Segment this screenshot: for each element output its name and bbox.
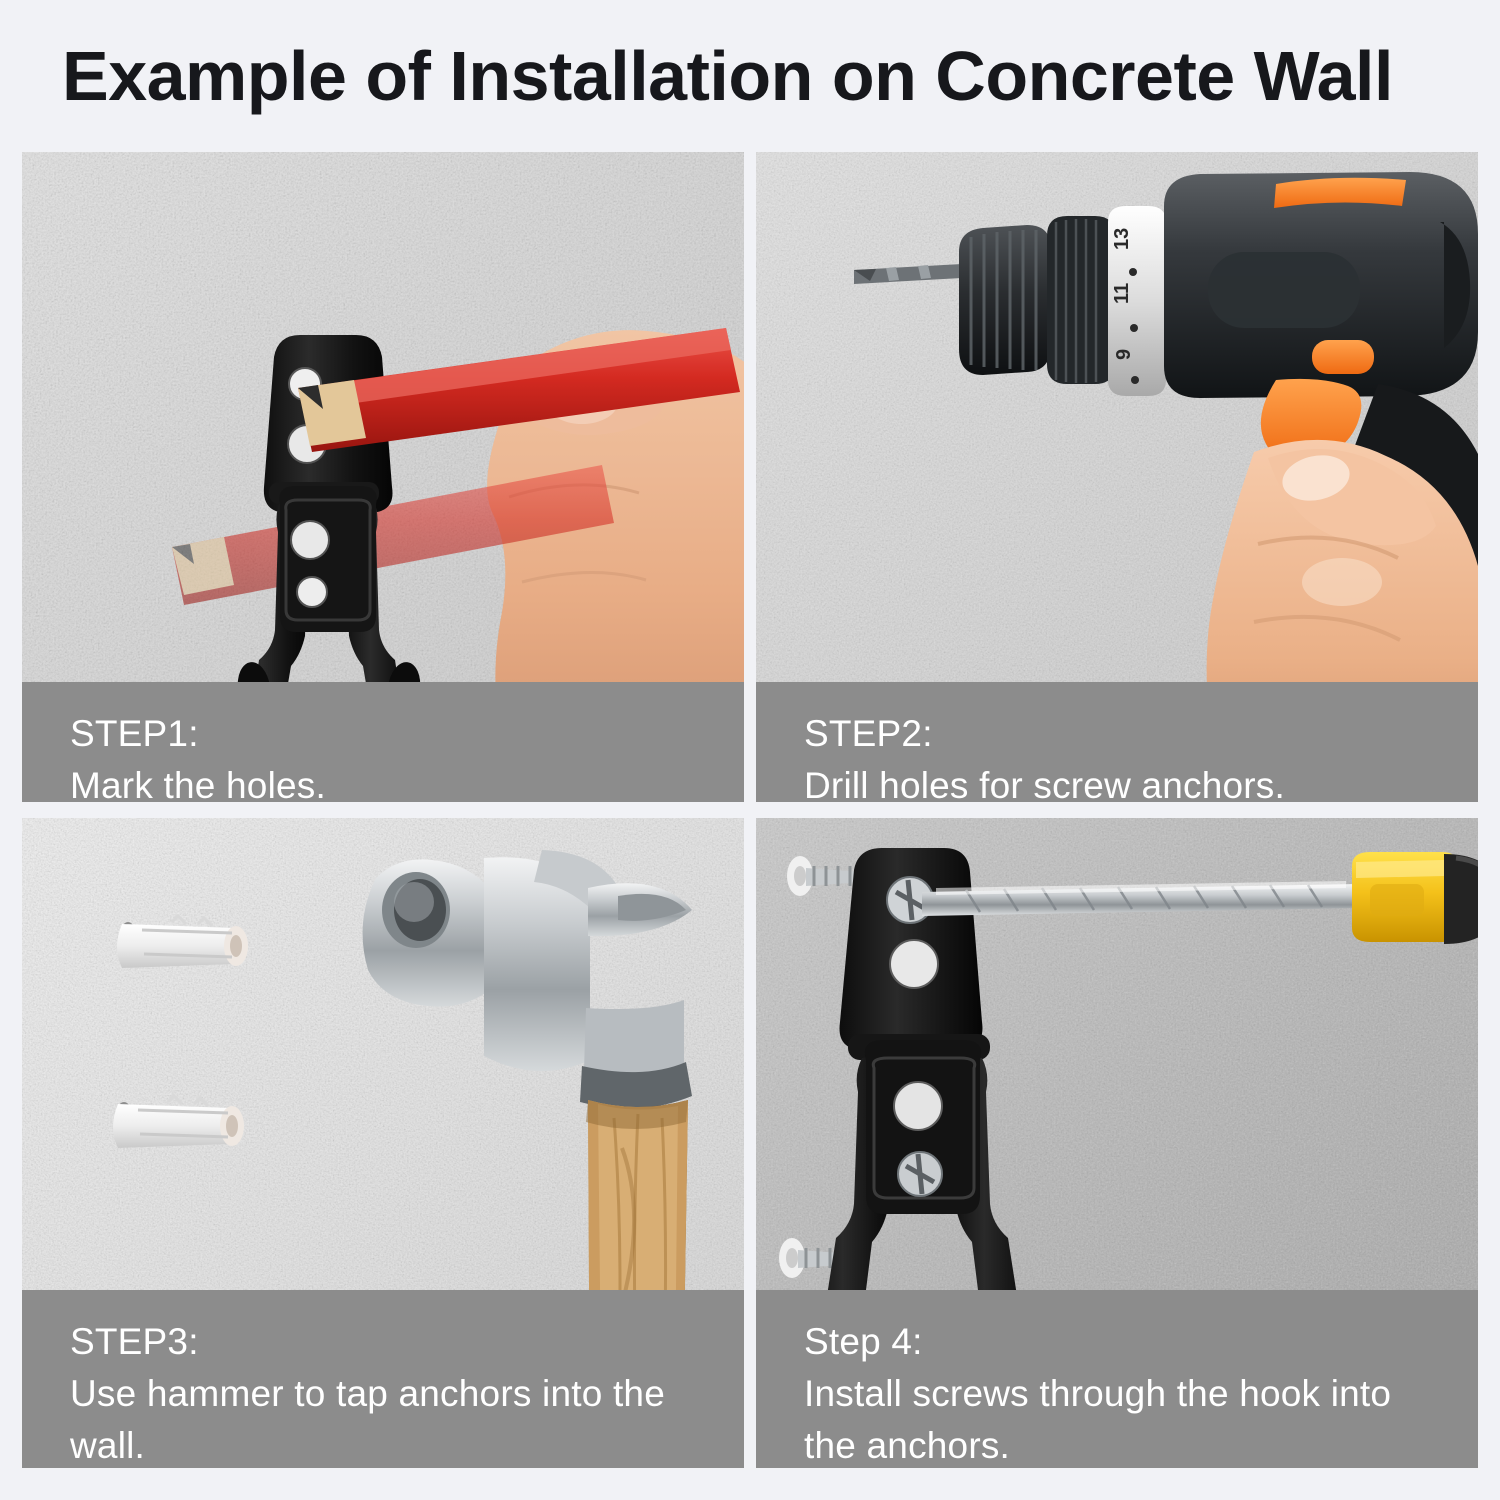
step-2-label: STEP2: — [804, 708, 1478, 760]
step-panel-grid: STEP1: Mark the holes. — [22, 152, 1478, 1468]
step-3-description: Use hammer to tap anchors into the wall. — [70, 1368, 680, 1468]
step-panel-3: STEP3: Use hammer to tap anchors into th… — [22, 818, 744, 1468]
step-3-caption: STEP3: Use hammer to tap anchors into th… — [22, 1290, 744, 1468]
step-panel-2: 13 11 9 — [756, 152, 1478, 802]
step-2-caption: STEP2: Drill holes for screw anchors. — [756, 682, 1478, 802]
clutch-mark-13: 13 — [1111, 228, 1133, 250]
clutch-mark-9: 9 — [1113, 349, 1135, 360]
step-1-caption: STEP1: Mark the holes. — [22, 682, 744, 802]
step-4-description: Install screws through the hook into the… — [804, 1368, 1414, 1468]
drill-direction-switch — [1312, 340, 1374, 374]
step-4-caption: Step 4: Install screws through the hook … — [756, 1290, 1478, 1468]
step-2-description: Drill holes for screw anchors. — [804, 760, 1414, 802]
step-1-label: STEP1: — [70, 708, 744, 760]
clutch-mark-11: 11 — [1111, 283, 1133, 304]
step-panel-1: STEP1: Mark the holes. — [22, 152, 744, 802]
step-4-label: Step 4: — [804, 1316, 1478, 1368]
step-3-label: STEP3: — [70, 1316, 744, 1368]
page-title: Example of Installation on Concrete Wall — [62, 30, 1462, 122]
step-panel-4: Step 4: Install screws through the hook … — [756, 818, 1478, 1468]
installation-instruction-graphic: Example of Installation on Concrete Wall — [0, 0, 1500, 1500]
step-1-description: Mark the holes. — [70, 760, 680, 802]
